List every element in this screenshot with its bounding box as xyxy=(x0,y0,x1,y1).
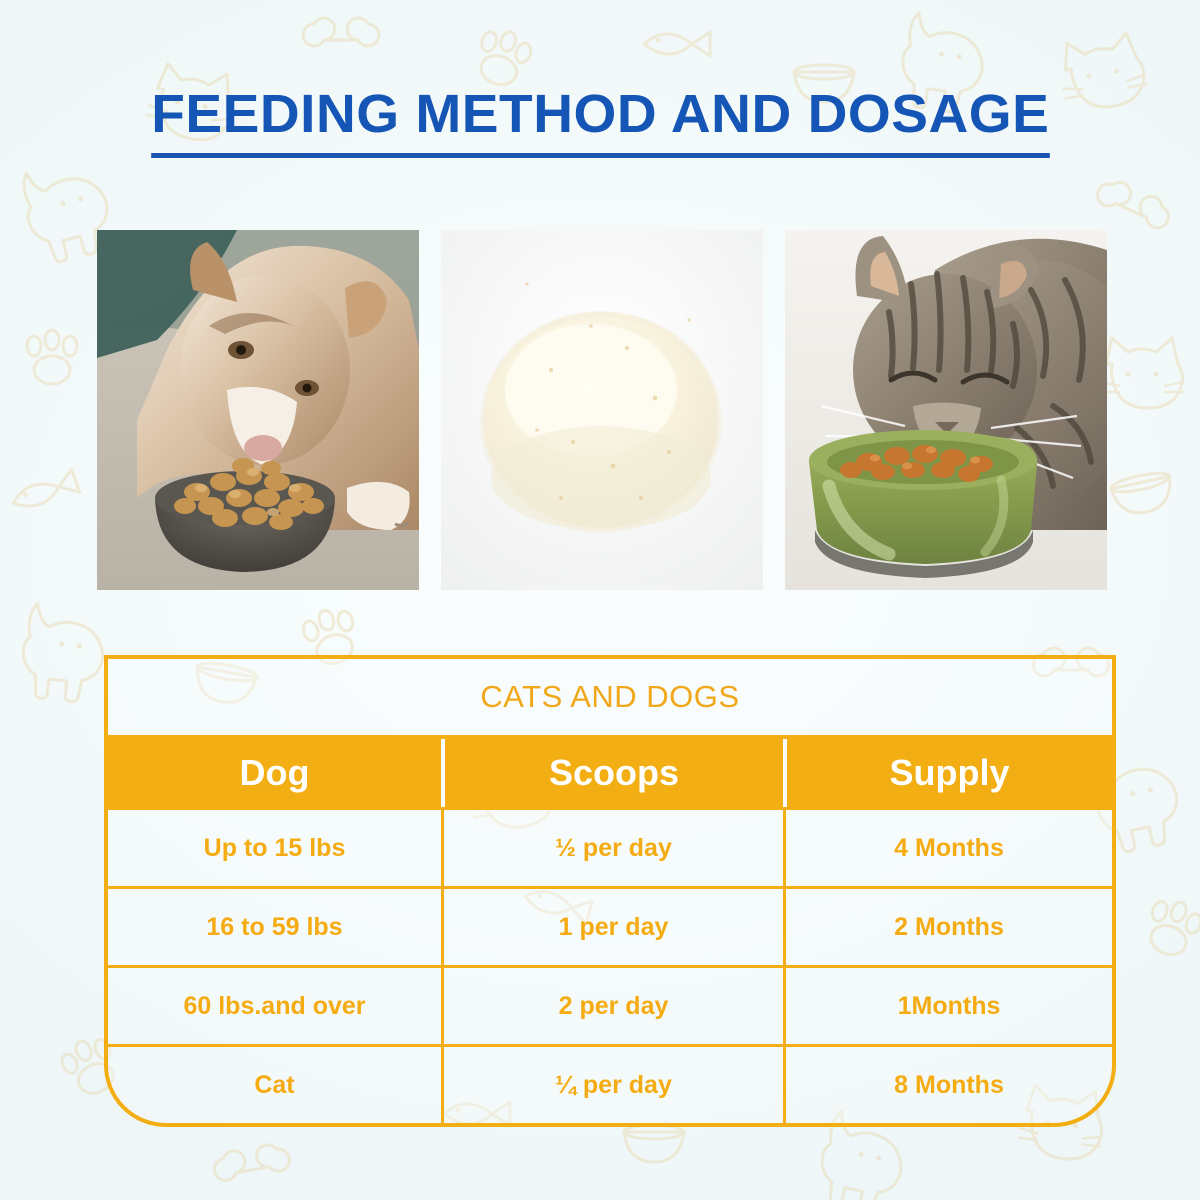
cell-animal: Cat xyxy=(108,1047,441,1123)
cell-scoops: ¼ per day xyxy=(441,1047,783,1123)
table-row: Up to 15 lbs ½ per day 4 Months xyxy=(108,807,1112,886)
column-header-supply: Supply xyxy=(783,739,1112,807)
dog-eating-from-bowl-photo xyxy=(97,230,419,590)
cell-supply: 8 Months xyxy=(783,1047,1112,1123)
cell-scoops: 2 per day xyxy=(441,968,783,1044)
dosage-table: CATS AND DOGS Dog Scoops Supply Up to 15… xyxy=(104,655,1116,1127)
column-header-scoops: Scoops xyxy=(441,739,783,807)
cell-scoops: ½ per day xyxy=(441,810,783,886)
table-caption: CATS AND DOGS xyxy=(480,679,739,715)
table-row: Cat ¼ per day 8 Months xyxy=(108,1044,1112,1123)
page-title: FEEDING METHOD AND DOSAGE xyxy=(0,86,1200,158)
page-title-text: FEEDING METHOD AND DOSAGE xyxy=(151,86,1049,158)
cell-animal: 60 lbs.and over xyxy=(108,968,441,1044)
cell-supply: 2 Months xyxy=(783,889,1112,965)
cell-supply: 1Months xyxy=(783,968,1112,1044)
table-header-row: Dog Scoops Supply xyxy=(108,739,1112,807)
photo-gallery xyxy=(97,230,1107,590)
column-header-dog: Dog xyxy=(108,739,441,807)
cell-scoops: 1 per day xyxy=(441,889,783,965)
table-caption-row: CATS AND DOGS xyxy=(108,659,1112,739)
powder-supplement-photo xyxy=(441,230,763,590)
cell-animal: 16 to 59 lbs xyxy=(108,889,441,965)
cell-supply: 4 Months xyxy=(783,810,1112,886)
table-row: 60 lbs.and over 2 per day 1Months xyxy=(108,965,1112,1044)
cell-animal: Up to 15 lbs xyxy=(108,810,441,886)
infographic-page: FEEDING METHOD AND DOSAGE xyxy=(0,0,1200,1200)
cat-eating-from-bowl-photo xyxy=(785,230,1107,590)
table-row: 16 to 59 lbs 1 per day 2 Months xyxy=(108,886,1112,965)
